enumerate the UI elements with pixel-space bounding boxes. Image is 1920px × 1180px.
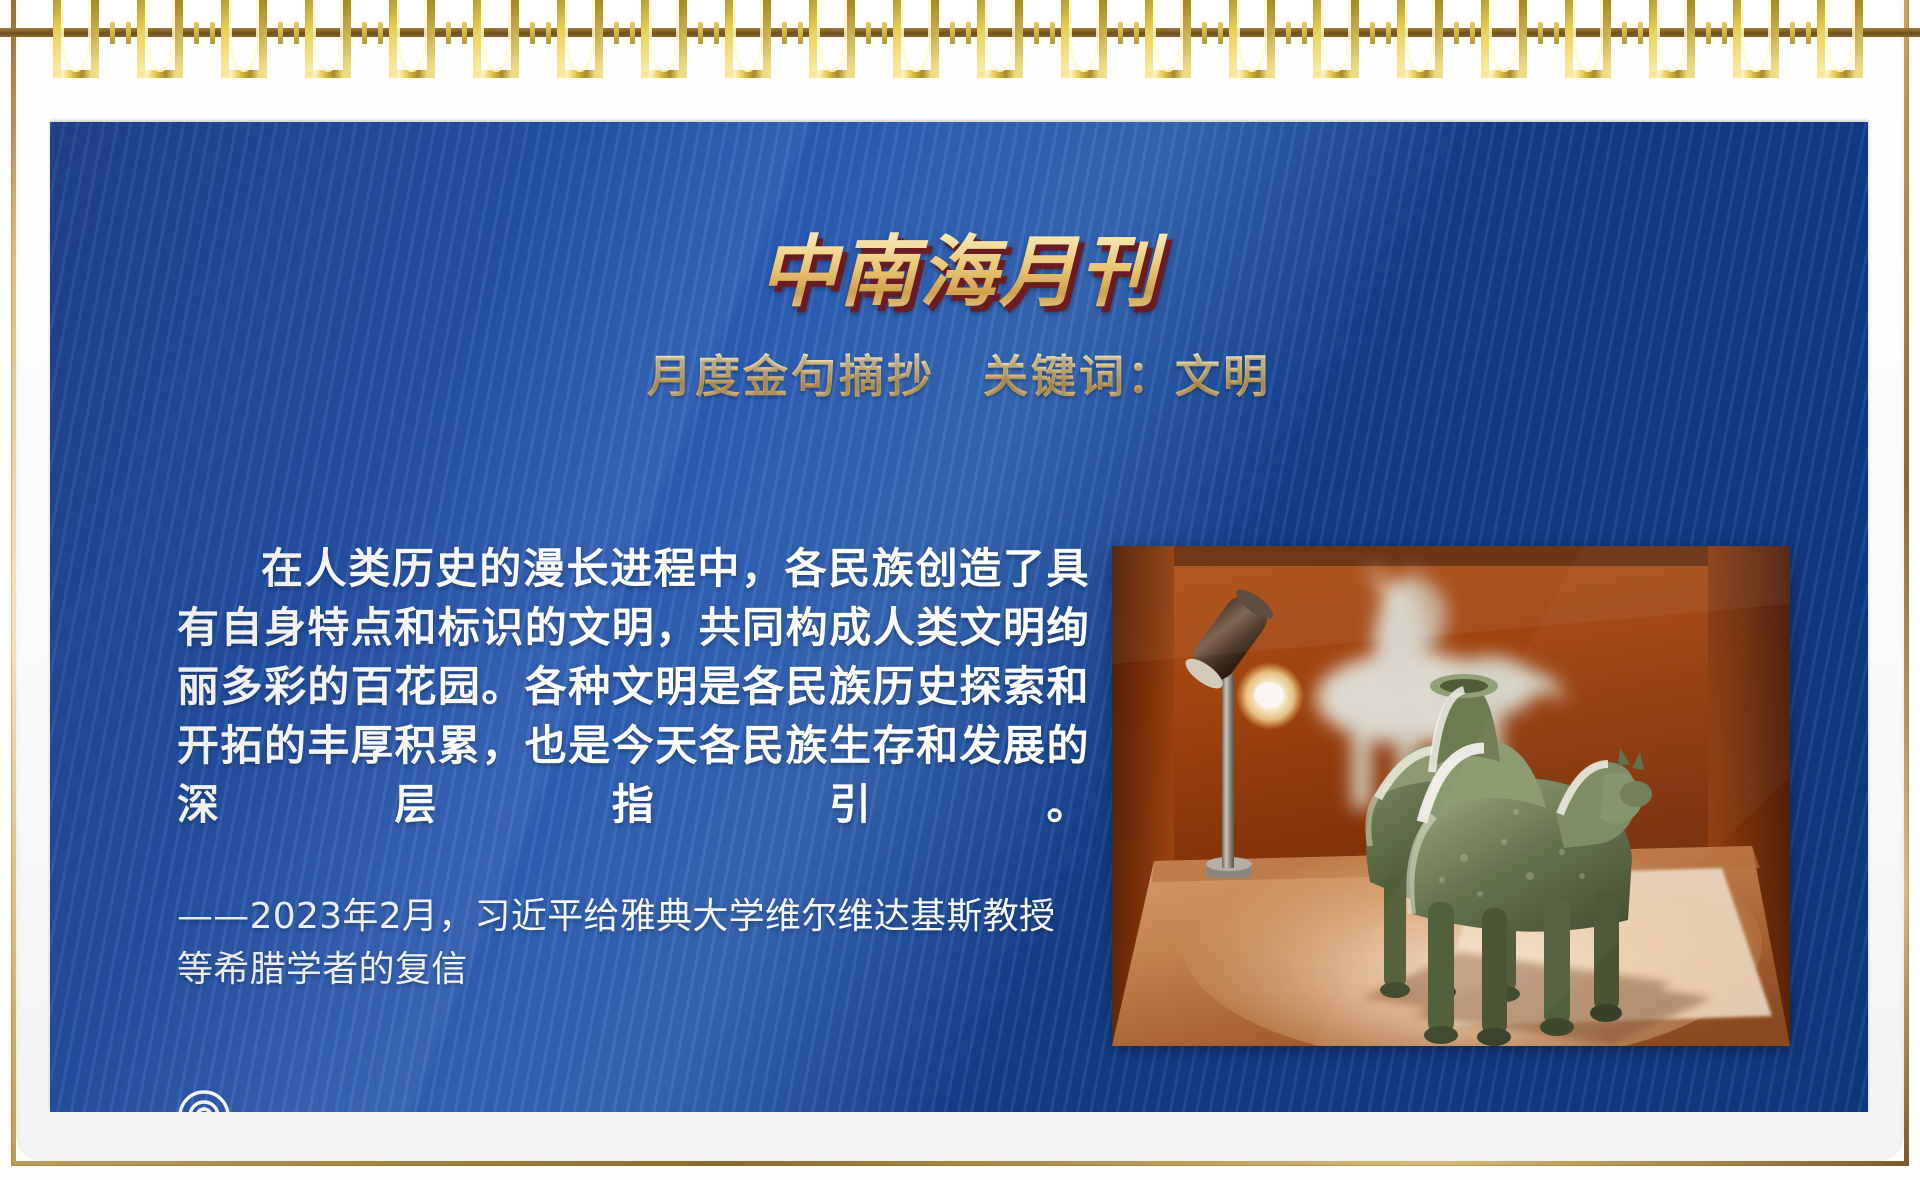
text-column: 在人类历史的漫长进程中，各民族创造了具有自身特点和标识的文明，共同构成人类文明绚…: [177, 539, 1089, 996]
quote-attribution: ——2023年2月，习近平给雅典大学维尔维达基斯教授等希腊学者的复信: [177, 890, 1089, 996]
subtitle: 月度金句摘抄 关键词：文明: [50, 340, 1868, 405]
quote-body: 在人类历史的漫长进程中，各民族创造了具有自身特点和标识的文明，共同构成人类文明绚…: [177, 539, 1089, 834]
page-title: 中南海月刊: [50, 210, 1868, 322]
slide-panel: 中南海月刊 月度金句摘抄 关键词：文明 在人类历史的漫长进程中，各民族创造了具有…: [50, 122, 1868, 1112]
museum-bronze-camel-photo: [1112, 546, 1790, 1046]
notebook-page: 中南海月刊 月度金句摘抄 关键词：文明 在人类历史的漫长进程中，各民族创造了具有…: [0, 0, 1920, 1180]
tap-hand-icon[interactable]: [163, 1074, 257, 1112]
binding-rod: [0, 28, 1920, 37]
